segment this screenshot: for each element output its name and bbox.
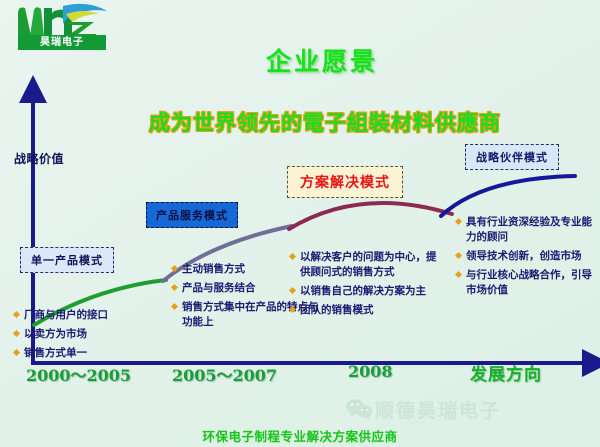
stage-3-curve — [289, 203, 452, 229]
footer-tagline: 环保电子制程专业解决方案供应商 — [0, 426, 600, 445]
x-tick-label-1: 2005～2007 — [172, 362, 277, 386]
x-axis-direction-label: 发展方向 — [470, 360, 542, 385]
stage-1-bullets: 厂商与用户的接口 以卖方为市场 销售方式单一 — [14, 308, 154, 365]
stage-4-bullets: 具有行业资深经验及专业能力的顾问 领导技术创新，创造市场 与行业核心战略合作，引… — [456, 215, 600, 302]
x-tick-label-2: 2008 — [348, 362, 393, 381]
stage-1-label-box: 单一产品模式 — [20, 247, 114, 273]
list-item: 领导技术创新，创造市场 — [456, 249, 600, 264]
list-item: 厂商与用户的接口 — [14, 308, 154, 323]
x-tick-label-0: 2000～2005 — [26, 362, 131, 386]
stage-4-label-box: 战略伙伴模式 — [465, 144, 559, 170]
stage-3-bullets: 以解决客户的问题为中心，提供顾问式的销售方式 以销售自己的解决方案为主 团队的销… — [290, 250, 442, 322]
slide-canvas: 昊瑞电子 企业愿景 成为世界领先的電子組裝材料供應商 战略价值 单一产品模式 产… — [0, 0, 600, 447]
list-item: 与行业核心战略合作，引导市场价值 — [456, 268, 600, 298]
list-item: 以卖方为市场 — [14, 327, 154, 342]
list-item: 以解决客户的问题为中心，提供顾问式的销售方式 — [290, 250, 442, 280]
list-item: 具有行业资深经验及专业能力的顾问 — [456, 215, 600, 245]
watermark-text: 顺德昊瑞电子 — [375, 396, 501, 423]
stage-4-curve — [441, 176, 575, 216]
y-axis-label: 战略价值 — [14, 150, 64, 167]
list-item: 团队的销售模式 — [290, 303, 442, 318]
list-item: 销售方式单一 — [14, 346, 154, 361]
stage-3-label-box: 方案解决模式 — [287, 166, 403, 198]
footer: 顺德昊瑞电子 环保电子制程专业解决方案供应商 — [0, 390, 600, 447]
wechat-icon — [345, 398, 373, 420]
stage-2-label-box: 产品服务模式 — [146, 202, 238, 228]
list-item: 以销售自己的解决方案为主 — [290, 284, 442, 299]
